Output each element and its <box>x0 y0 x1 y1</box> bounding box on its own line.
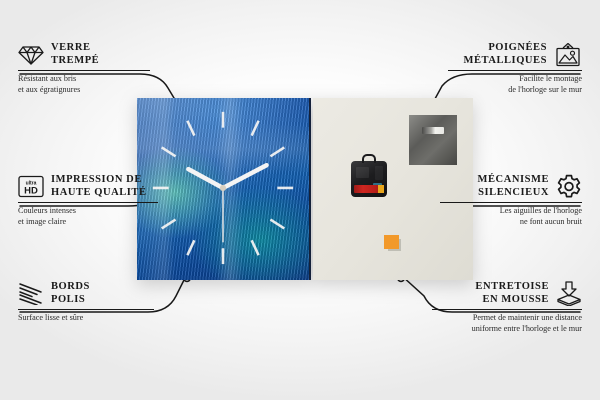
feature-impression-haute-qualite: ultra HD IMPRESSION DE HAUTE QUALITÉ Cou… <box>18 174 158 227</box>
feature-divider <box>440 202 582 203</box>
product-photo <box>137 98 473 280</box>
metal-hanger-plate <box>409 115 457 165</box>
feature-divider <box>432 309 582 310</box>
hour-marker-4 <box>270 220 284 229</box>
feature-header: VERRE TREMPÉ <box>18 42 150 67</box>
feature-title: ENTRETOISE EN MOUSSE <box>475 281 549 306</box>
feature-header: POIGNÉES MÉTALLIQUES <box>448 42 582 67</box>
hour-hand <box>188 169 223 188</box>
feature-title: POIGNÉES MÉTALLIQUES <box>464 42 547 67</box>
feature-title: IMPRESSION DE HAUTE QUALITÉ <box>51 174 147 199</box>
feature-description: Facilite le montage de l'horloge sur le … <box>448 74 582 94</box>
clock-center-cap <box>220 185 226 191</box>
diamond-icon <box>18 44 44 66</box>
foam-spacer <box>384 235 399 249</box>
hour-marker-11 <box>187 121 194 136</box>
feature-description: Résistant aux bris et aux égratignures <box>18 74 150 94</box>
hour-marker-5 <box>252 240 259 255</box>
mechanism-panel-a <box>356 167 369 178</box>
hanger-slot <box>422 127 444 134</box>
feature-header: BORDS POLIS <box>18 281 154 306</box>
picture-hanger-icon <box>554 43 582 67</box>
clock-dial <box>137 98 309 278</box>
mechanism-hanging-loop <box>362 154 376 163</box>
feature-header: ultra HD IMPRESSION DE HAUTE QUALITÉ <box>18 174 158 199</box>
feature-header: ENTRETOISE EN MOUSSE <box>432 281 582 306</box>
hour-marker-7 <box>187 240 194 255</box>
feature-verre-trempe: VERRE TREMPÉ Résistant aux bris et aux é… <box>18 42 150 95</box>
feature-divider <box>448 70 582 71</box>
feature-entretoise-en-mousse: ENTRETOISE EN MOUSSE Permet de maintenir… <box>432 281 582 334</box>
hour-marker-8 <box>162 220 176 229</box>
feature-divider <box>18 309 154 310</box>
feature-title: BORDS POLIS <box>51 281 90 306</box>
hour-marker-10 <box>162 147 176 156</box>
feature-bords-polis: BORDS POLIS Surface lisse et sûre <box>18 281 154 324</box>
feature-title: VERRE TREMPÉ <box>51 42 99 67</box>
hour-marker-1 <box>252 121 259 136</box>
feature-mecanisme-silencieux: MÉCANISME SILENCIEUX Les aiguilles de l'… <box>440 174 582 227</box>
battery <box>354 185 384 193</box>
clock-mechanism <box>351 161 387 197</box>
hour-marker-2 <box>270 147 284 156</box>
feature-poignees-metalliques: POIGNÉES MÉTALLIQUES Facilite le montage… <box>448 42 582 95</box>
polished-edges-icon <box>18 282 44 305</box>
feature-title: MÉCANISME SILENCIEUX <box>478 174 549 199</box>
minute-hand <box>223 165 266 188</box>
feature-divider <box>18 70 150 71</box>
mechanism-panel-b <box>375 166 383 180</box>
ultra-hd-large-text: HD <box>24 186 38 197</box>
feature-description: Les aiguilles de l'horloge ne font aucun… <box>440 206 582 226</box>
glass-clock-face <box>137 98 311 280</box>
feature-header: MÉCANISME SILENCIEUX <box>440 174 582 199</box>
feature-description: Couleurs intenses et image claire <box>18 206 158 226</box>
feature-divider <box>18 202 158 203</box>
ultra-hd-icon: ultra HD <box>18 175 44 198</box>
battery-terminal <box>378 185 384 193</box>
feature-description: Permet de maintenir une distance uniform… <box>432 313 582 333</box>
infographic-canvas: VERRE TREMPÉ Résistant aux bris et aux é… <box>0 0 600 400</box>
foam-spacer-icon <box>556 281 582 306</box>
feature-description: Surface lisse et sûre <box>18 313 154 323</box>
gear-icon <box>556 174 582 199</box>
